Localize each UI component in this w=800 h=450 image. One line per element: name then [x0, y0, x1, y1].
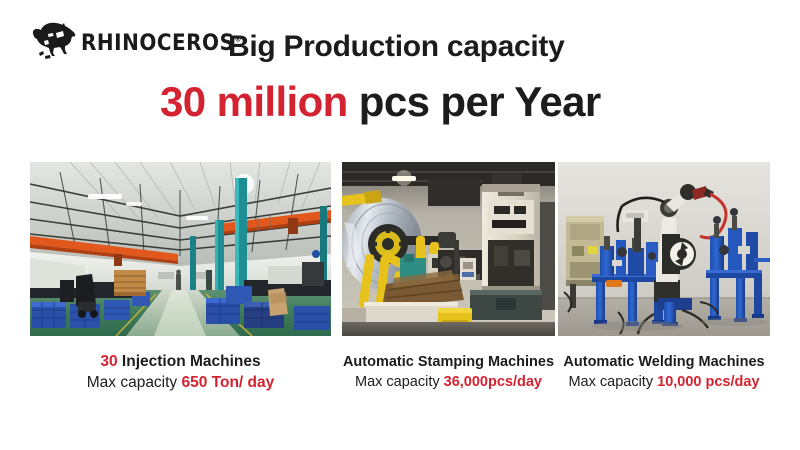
caption-capacity-injection: Max capacity 650 Ton/ day	[30, 373, 331, 394]
caption-value-welding: 10,000 pcs/day	[657, 374, 759, 390]
brand-logo: RHINOCEROS®	[27, 20, 205, 64]
caption-count-injection: 30	[100, 353, 117, 370]
automatic-stamping-machine-photo	[342, 162, 555, 336]
rhinoceros-logo-icon	[27, 19, 79, 66]
caption-capacity-stamping: Max capacity 36,000pcs/day	[338, 373, 559, 393]
caption-injection: 30 Injection Machines Max capacity 650 T…	[30, 352, 331, 394]
slide-canvas: RHINOCEROS® Big Production capacity 30 m…	[0, 0, 800, 450]
injection-molding-workshop-photo	[30, 162, 331, 336]
headline-rest: pcs per Year	[348, 78, 601, 125]
headline: 30 million pcs per Year	[160, 78, 601, 126]
caption-title-welding: Automatic Welding Machines	[556, 353, 772, 373]
caption-welding: Automatic Welding Machines Max capacity …	[556, 353, 772, 392]
caption-stamping: Automatic Stamping Machines Max capacity…	[338, 353, 559, 392]
caption-capacity-welding: Max capacity 10,000 pcs/day	[556, 373, 772, 393]
caption-title-stamping: Automatic Stamping Machines	[338, 353, 559, 373]
brand-wordmark: RHINOCEROS®	[81, 29, 242, 56]
headline-highlight: 30 million	[160, 78, 348, 125]
caption-title-injection: 30 Injection Machines	[30, 352, 331, 373]
caption-value-stamping: 36,000pcs/day	[444, 374, 542, 390]
caption-value-injection: 650 Ton/ day	[182, 374, 275, 391]
automatic-welding-robot-photo	[558, 162, 770, 336]
page-title: Big Production capacity	[228, 30, 565, 64]
